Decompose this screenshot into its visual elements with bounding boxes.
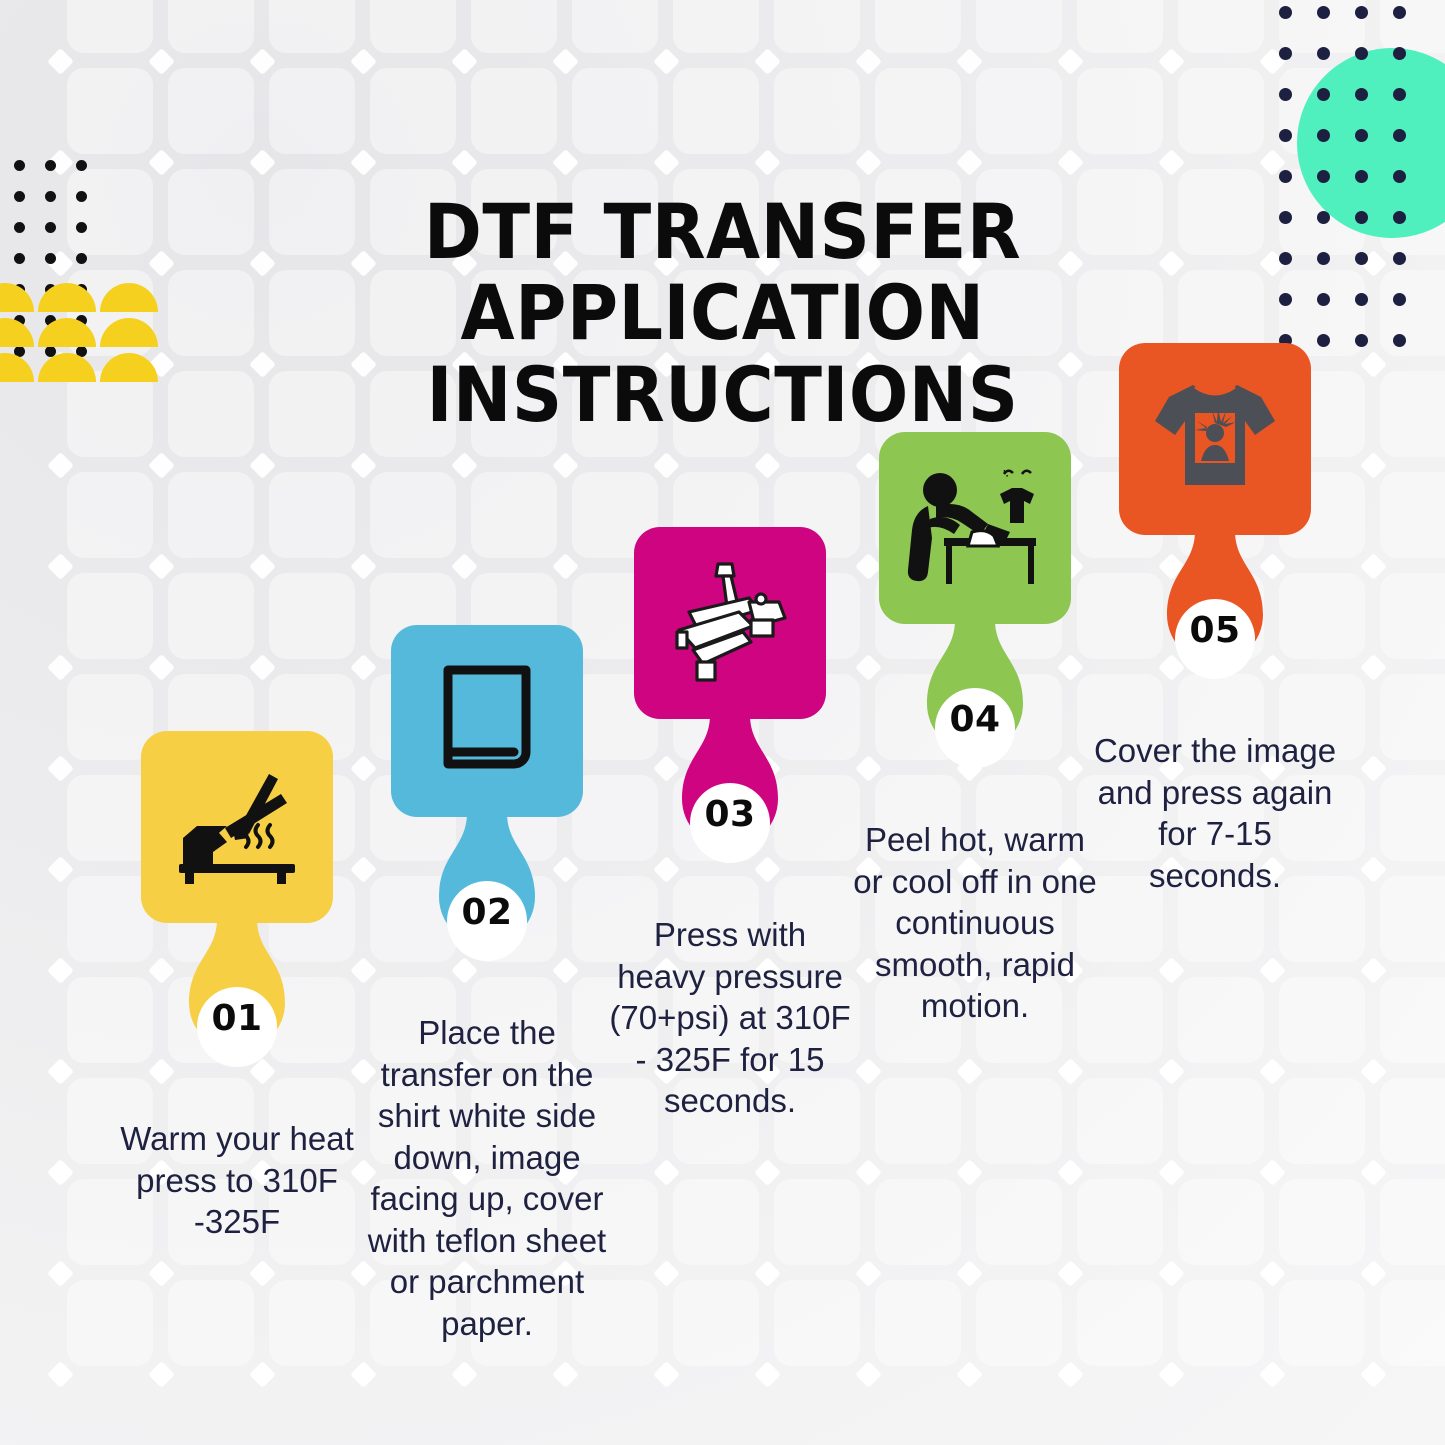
printed-tshirt-icon bbox=[1147, 379, 1283, 499]
svg-text:∵: ∵ bbox=[1003, 467, 1011, 482]
step-01: 01Warm your heat press to 310F -325F bbox=[112, 731, 362, 1243]
heat-press-open-icon bbox=[173, 768, 301, 886]
step-number-badge-03: 03 bbox=[678, 762, 782, 866]
step-caption-05: Cover the image and press again for 7-15… bbox=[1091, 730, 1339, 896]
step-caption-03: Press with heavy pressure (70+psi) at 31… bbox=[606, 914, 854, 1122]
step-icon-card-03[interactable] bbox=[634, 527, 826, 719]
step-caption-02: Place the transfer on the shirt white si… bbox=[363, 1012, 611, 1345]
step-number-badge-04: 04 bbox=[923, 667, 1027, 771]
step-icon-card-04[interactable]: ∵ bbox=[879, 432, 1071, 624]
heat-press-machine-icon bbox=[663, 558, 797, 688]
step-03: 03Press with heavy pressure (70+psi) at … bbox=[605, 527, 855, 1122]
step-05: 05Cover the image and press again for 7-… bbox=[1090, 343, 1340, 896]
step-04: ∵ 04Peel hot, warm or cool off in one co… bbox=[850, 432, 1100, 1027]
step-number-badge-05: 05 bbox=[1163, 578, 1267, 682]
step-number-badge-02: 02 bbox=[435, 860, 539, 964]
step-icon-card-02[interactable] bbox=[391, 625, 583, 817]
step-icon-card-01[interactable] bbox=[141, 731, 333, 923]
step-number-badge-01: 01 bbox=[185, 966, 289, 1070]
step-caption-04: Peel hot, warm or cool off in one contin… bbox=[851, 819, 1099, 1027]
steps-container: 01Warm your heat press to 310F -325F 02P… bbox=[0, 0, 1445, 1445]
transfer-sheet-icon bbox=[426, 660, 548, 782]
infographic-poster: DTF TRANSFER APPLICATION INSTRUCTIONS bbox=[0, 0, 1445, 1445]
step-02: 02Place the transfer on the shirt white … bbox=[362, 625, 612, 1345]
peeling-transfer-person-icon: ∵ bbox=[900, 464, 1050, 592]
step-icon-card-05[interactable] bbox=[1119, 343, 1311, 535]
step-caption-01: Warm your heat press to 310F -325F bbox=[113, 1118, 361, 1243]
